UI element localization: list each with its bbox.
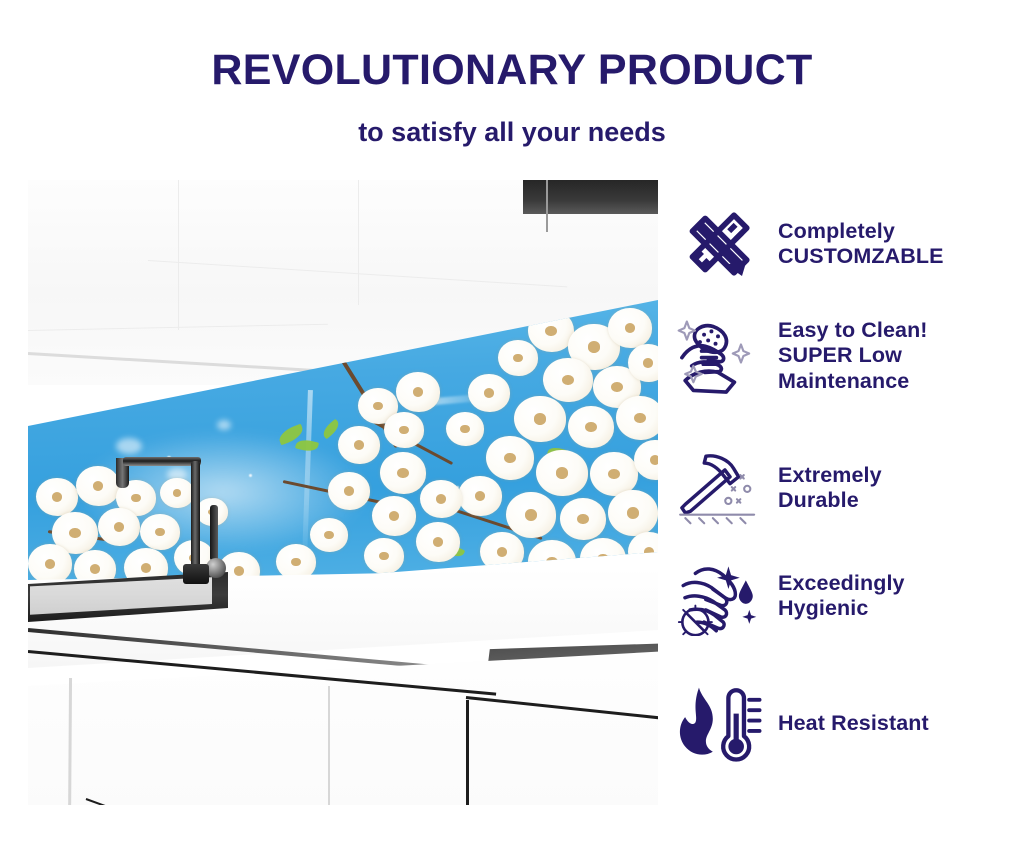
page-subtitle: to satisfy all your needs bbox=[0, 118, 1024, 148]
hammer-icon bbox=[672, 446, 764, 530]
blossom bbox=[486, 436, 534, 480]
feature-list: Completely CUSTOMZABLE bbox=[672, 196, 1020, 806]
blossom bbox=[616, 396, 658, 440]
cabinet-seam bbox=[178, 180, 179, 330]
blossom bbox=[628, 532, 658, 572]
blossom bbox=[76, 466, 120, 506]
feature-label: Extremely Durable bbox=[778, 463, 882, 514]
blossom bbox=[338, 426, 380, 464]
page-title: REVOLUTIONARY PRODUCT bbox=[0, 48, 1024, 93]
faucet-base bbox=[183, 564, 209, 584]
blossom bbox=[384, 412, 424, 448]
blossom bbox=[416, 522, 460, 562]
feature-line: SUPER Low bbox=[778, 343, 928, 368]
blossom bbox=[310, 518, 348, 552]
feature-line: Extremely bbox=[778, 463, 882, 488]
blossom bbox=[560, 498, 606, 540]
faucet-arm bbox=[123, 457, 201, 466]
blossom bbox=[506, 492, 556, 538]
product-feature-poster: REVOLUTIONARY PRODUCT to satisfy all you… bbox=[0, 0, 1024, 856]
feature-line: Exceedingly bbox=[778, 571, 905, 596]
pencil-ruler-icon bbox=[672, 202, 764, 286]
faucet-handle bbox=[210, 505, 218, 561]
blossom bbox=[468, 374, 510, 412]
blossom bbox=[364, 538, 404, 574]
feature-line: Completely bbox=[778, 219, 944, 244]
feature-line: Easy to Clean! bbox=[778, 318, 928, 343]
feature-line: Hygienic bbox=[778, 596, 905, 621]
feature-item-hygienic: Exceedingly Hygienic bbox=[672, 554, 1020, 638]
feature-item-easy-to-clean: Easy to Clean! SUPER Low Maintenance bbox=[672, 314, 1020, 398]
faucet-column bbox=[191, 461, 200, 581]
blossom bbox=[446, 412, 484, 446]
blossom bbox=[28, 544, 72, 584]
feature-item-customizable: Completely CUSTOMZABLE bbox=[672, 202, 1020, 286]
blossom bbox=[536, 450, 588, 496]
blossom bbox=[396, 372, 440, 412]
feature-item-heat-resistant: Heat Resistant bbox=[672, 682, 1020, 766]
cabinet-seam bbox=[358, 180, 359, 305]
blossom bbox=[98, 508, 140, 546]
blossom bbox=[498, 340, 538, 376]
feature-line: Heat Resistant bbox=[778, 711, 929, 736]
flame-thermometer-icon bbox=[672, 682, 764, 766]
hood-edge bbox=[546, 180, 548, 232]
feature-label: Heat Resistant bbox=[778, 711, 929, 736]
blossom bbox=[568, 406, 614, 448]
extractor-hood bbox=[523, 180, 658, 214]
hand-sponge-icon bbox=[672, 314, 764, 398]
kitchen-photo bbox=[28, 180, 658, 805]
blossom bbox=[36, 478, 78, 516]
blossom bbox=[276, 544, 316, 580]
cabinet-edge bbox=[328, 686, 330, 805]
blossom bbox=[160, 478, 194, 508]
blossom bbox=[328, 472, 370, 510]
blossom bbox=[458, 476, 502, 516]
blossom-bokeh bbox=[116, 438, 142, 454]
blossom bbox=[140, 514, 180, 550]
white-base-cabinets bbox=[28, 650, 658, 805]
blossom bbox=[372, 496, 416, 536]
washing-hands-icon bbox=[672, 554, 764, 638]
blossom bbox=[420, 480, 462, 518]
blossom bbox=[543, 358, 593, 402]
blossom-bokeh bbox=[217, 420, 231, 430]
feature-label: Exceedingly Hygienic bbox=[778, 571, 905, 622]
blossom-leaf bbox=[320, 419, 342, 440]
feature-item-durable: Extremely Durable bbox=[672, 446, 1020, 530]
feature-line: Durable bbox=[778, 488, 882, 513]
blossom-leaf bbox=[295, 438, 319, 454]
feature-label: Completely CUSTOMZABLE bbox=[778, 219, 944, 270]
blossom bbox=[480, 532, 524, 572]
feature-line: CUSTOMZABLE bbox=[778, 244, 944, 269]
cabinet-edge bbox=[466, 700, 469, 805]
blossom bbox=[608, 308, 652, 348]
feature-label: Easy to Clean! SUPER Low Maintenance bbox=[778, 318, 928, 394]
faucet-knob bbox=[206, 558, 226, 578]
feature-line: Maintenance bbox=[778, 369, 928, 394]
blossom bbox=[608, 490, 658, 536]
blossom bbox=[514, 396, 566, 442]
blossom bbox=[380, 452, 426, 494]
